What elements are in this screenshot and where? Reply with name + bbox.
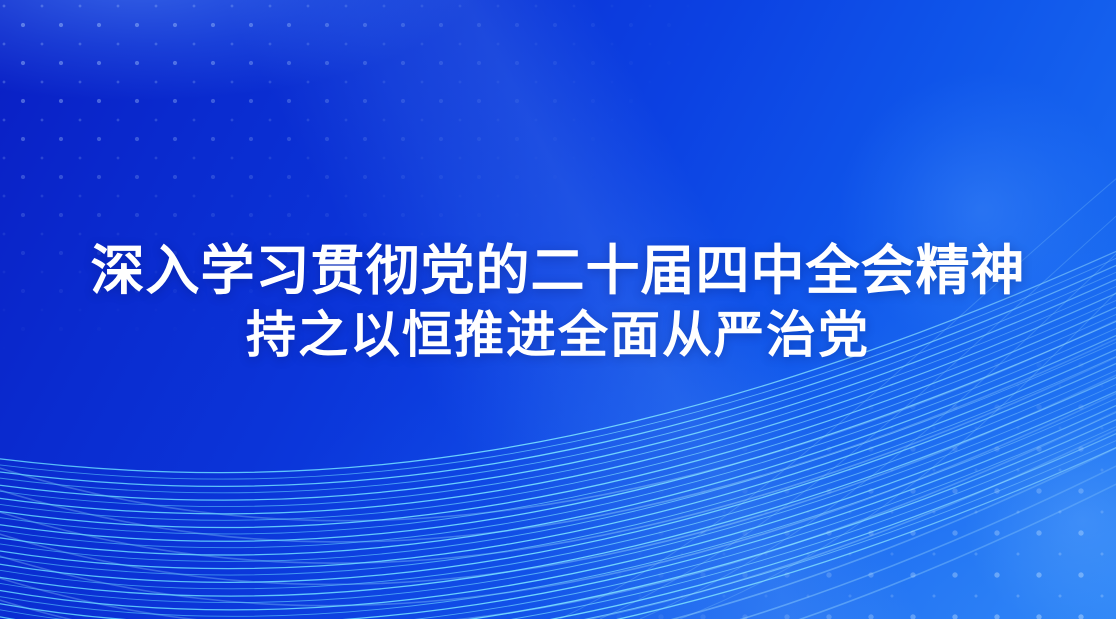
title-line-primary: 深入学习贯彻党的二十届四中全会精神 [0,244,1116,298]
title-line-secondary: 持之以恒推进全面从严治党 [0,310,1116,360]
banner-title: 深入学习贯彻党的二十届四中全会精神 持之以恒推进全面从严治党 [0,244,1116,360]
promotional-banner: 深入学习贯彻党的二十届四中全会精神 持之以恒推进全面从严治党 [0,0,1116,619]
